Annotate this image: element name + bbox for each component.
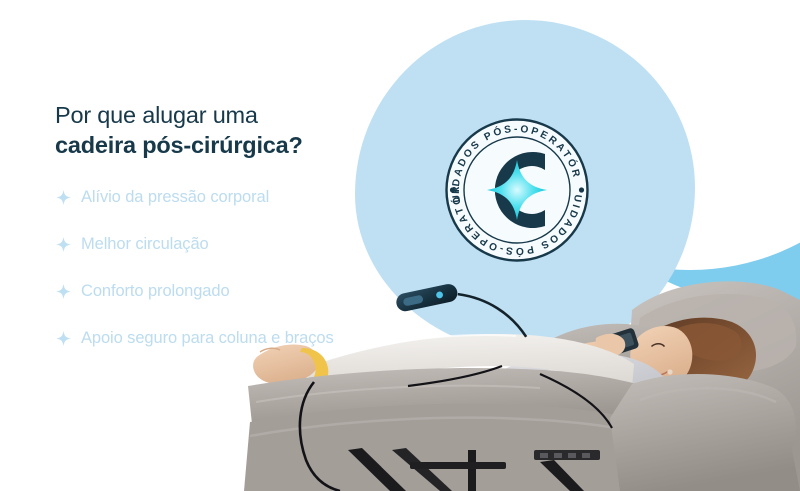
sparkle-icon <box>55 189 72 211</box>
headline-line-1: Por que alugar uma <box>55 100 355 130</box>
logo-badge: CUIDADOS PÓS-OPERATÓRIO CUIDADOS PÓS-OPE… <box>441 114 593 266</box>
sparkle-icon <box>55 236 72 258</box>
sparkle-icon <box>55 330 72 352</box>
benefit-label: Conforto prolongado <box>81 281 230 302</box>
promo-banner: CUIDADOS PÓS-OPERATÓRIO CUIDADOS PÓS-OPE… <box>0 0 800 491</box>
sparkle-icon <box>55 283 72 305</box>
benefit-label: Melhor circulação <box>81 234 209 255</box>
